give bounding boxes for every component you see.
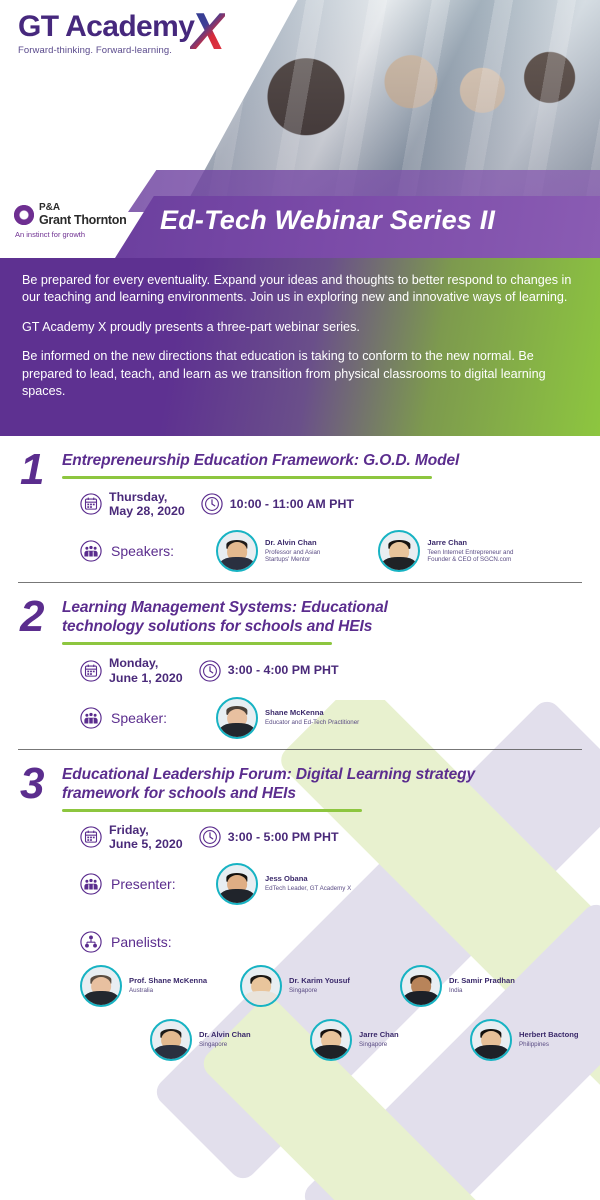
clock-icon bbox=[201, 493, 223, 515]
panelist-4: Dr. Alvin Chan Singapore bbox=[150, 1019, 300, 1061]
avatar bbox=[80, 965, 122, 1007]
intro-paragraph-3: Be informed on the new directions that e… bbox=[22, 348, 578, 400]
grant-thornton-logo: P&A Grant Thornton An instinct for growt… bbox=[14, 203, 132, 239]
panelist-name: Prof. Shane McKenna bbox=[129, 977, 207, 986]
avatar bbox=[216, 530, 258, 572]
session-2-speaker-label: Speaker: bbox=[111, 710, 167, 726]
speaker-role-line1: Professor and Asian bbox=[265, 549, 320, 556]
avatar bbox=[216, 697, 258, 739]
session-3-time-text: 3:00 - 5:00 PM PHT bbox=[228, 830, 339, 844]
session-3-panelist-label: Panelists: bbox=[111, 934, 172, 950]
session-2-speakers: Speaker: Shane McKenna Educator and Ed-T… bbox=[80, 697, 580, 739]
panelist-1: Prof. Shane McKenna Australia bbox=[80, 965, 230, 1007]
panelist-name: Dr. Samir Pradhan bbox=[449, 977, 515, 986]
session-3-number: 3 bbox=[20, 764, 62, 804]
avatar-body bbox=[314, 1045, 349, 1061]
session-1-number: 1 bbox=[20, 450, 62, 490]
session-1-underline bbox=[62, 476, 432, 479]
session-2-speaker-label-group: Speaker: bbox=[80, 707, 198, 729]
avatar bbox=[400, 965, 442, 1007]
panelist-2: Dr. Karim Yousuf Singapore bbox=[240, 965, 390, 1007]
session-1-speaker-1: Dr. Alvin Chan Professor and Asian Start… bbox=[216, 530, 320, 572]
session-2-speaker-1: Shane McKenna Educator and Ed-Tech Pract… bbox=[216, 697, 359, 739]
session-2: 2 Learning Management Systems: Education… bbox=[0, 583, 600, 748]
session-3-presenter-1: Jess Obana EdTech Leader, GT Academy X bbox=[216, 863, 351, 905]
panelist-name: Herbert Bactong bbox=[519, 1031, 579, 1040]
session-1-date-line2: May 28, 2020 bbox=[109, 504, 185, 518]
gt-academy-logo: GT Academy X Forward-thinking. Forward-l… bbox=[18, 12, 233, 56]
avatar-body bbox=[474, 1045, 509, 1061]
grant-thornton-line2: Grant Thornton bbox=[39, 214, 126, 227]
session-1-speaker-label: Speakers: bbox=[111, 543, 174, 559]
panelist-5: Jarre Chan Singapore bbox=[310, 1019, 460, 1061]
session-3-presenter-label-group: Presenter: bbox=[80, 873, 198, 895]
speakers-group-icon bbox=[80, 873, 102, 895]
session-2-time: 3:00 - 4:00 PM PHT bbox=[199, 660, 339, 682]
session-3-date: Friday, June 5, 2020 bbox=[80, 823, 183, 852]
avatar-body bbox=[220, 889, 255, 905]
session-2-date-line1: Monday, bbox=[109, 656, 183, 670]
session-1-speaker-label-group: Speakers: bbox=[80, 540, 198, 562]
avatar bbox=[470, 1019, 512, 1061]
session-1-speaker-2: Jarre Chan Teen Internet Entrepreneur an… bbox=[378, 530, 513, 572]
avatar bbox=[378, 530, 420, 572]
title-band: Ed-Tech Webinar Series II bbox=[115, 196, 600, 258]
calendar-icon bbox=[80, 826, 102, 848]
avatar-body bbox=[382, 557, 417, 573]
intro-section: Be prepared for every eventuality. Expan… bbox=[0, 258, 600, 436]
session-1: 1 Entrepreneurship Education Framework: … bbox=[0, 436, 600, 582]
session-3-title: Educational Leadership Forum: Digital Le… bbox=[62, 766, 487, 804]
intro-paragraph-2: GT Academy X proudly presents a three-pa… bbox=[22, 319, 578, 336]
speaker-name: Shane McKenna bbox=[265, 709, 359, 718]
panelist-name: Jarre Chan bbox=[359, 1031, 399, 1040]
session-2-number: 2 bbox=[20, 597, 62, 637]
avatar-body bbox=[220, 723, 255, 739]
grant-thornton-line1: P&A bbox=[39, 203, 126, 214]
avatar-body bbox=[154, 1045, 189, 1061]
session-2-meta: Monday, June 1, 2020 3:00 - 4:0 bbox=[80, 656, 580, 685]
session-3-meta: Friday, June 5, 2020 3:00 - 5:0 bbox=[80, 823, 600, 852]
speaker-role-line1: Educator and Ed-Tech Practitioner bbox=[265, 719, 359, 726]
session-3-date-line2: June 5, 2020 bbox=[109, 837, 183, 851]
session-1-title: Entrepreneurship Education Framework: G.… bbox=[62, 452, 580, 471]
panelist-country: Singapore bbox=[199, 1041, 251, 1048]
infographic-page: Ed-Tech Webinar Series II GT Academy X F… bbox=[0, 0, 600, 1200]
session-1-meta: Thursday, May 28, 2020 10:00 - bbox=[80, 490, 580, 519]
clock-icon bbox=[199, 660, 221, 682]
session-3-presenter: Presenter: Jess Obana EdTech Leader, GT … bbox=[80, 863, 600, 905]
session-3-underline bbox=[62, 809, 362, 812]
avatar bbox=[310, 1019, 352, 1061]
session-2-date: Monday, June 1, 2020 bbox=[80, 656, 183, 685]
panelist-name: Dr. Karim Yousuf bbox=[289, 977, 350, 986]
speaker-name: Dr. Alvin Chan bbox=[265, 539, 320, 548]
grant-thornton-mark-icon bbox=[14, 205, 34, 225]
panelist-country: Australia bbox=[129, 987, 207, 994]
sessions-list: 1 Entrepreneurship Education Framework: … bbox=[0, 436, 600, 1071]
panelist-country: India bbox=[449, 987, 515, 994]
panelist-6: Herbert Bactong Philippines bbox=[470, 1019, 600, 1061]
avatar-body bbox=[220, 557, 255, 573]
panelist-name: Dr. Alvin Chan bbox=[199, 1031, 251, 1040]
session-2-date-line2: June 1, 2020 bbox=[109, 671, 183, 685]
session-1-speakers: Speakers: Dr. Alvin Chan Professor and A… bbox=[80, 530, 580, 572]
panelists-row-2: Dr. Alvin Chan Singapore bbox=[150, 1019, 600, 1061]
panelist-3: Dr. Samir Pradhan India bbox=[400, 965, 550, 1007]
panelists-network-icon bbox=[80, 931, 102, 953]
page-title: Ed-Tech Webinar Series II bbox=[160, 205, 495, 236]
header: Ed-Tech Webinar Series II GT Academy X F… bbox=[0, 0, 600, 258]
speaker-role-line2: Startups' Mentor bbox=[265, 556, 320, 563]
gt-academy-x-mark: X bbox=[190, 6, 225, 58]
avatar-body bbox=[244, 991, 279, 1007]
session-3-panelists: Panelists: bbox=[80, 917, 600, 1007]
intro-paragraph-1: Be prepared for every eventuality. Expan… bbox=[22, 272, 578, 307]
session-2-time-text: 3:00 - 4:00 PM PHT bbox=[228, 663, 339, 677]
session-3-panelist-label-group: Panelists: bbox=[80, 931, 198, 953]
grant-thornton-tagline: An instinct for growth bbox=[15, 230, 132, 239]
speakers-group-icon bbox=[80, 540, 102, 562]
panelist-country: Singapore bbox=[359, 1041, 399, 1048]
clock-icon bbox=[199, 826, 221, 848]
session-1-date: Thursday, May 28, 2020 bbox=[80, 490, 185, 519]
session-1-date-line1: Thursday, bbox=[109, 490, 185, 504]
panelists-grid-row2: Dr. Alvin Chan Singapore bbox=[80, 1019, 600, 1061]
session-2-title: Learning Management Systems: Educational… bbox=[62, 599, 462, 637]
avatar-body bbox=[404, 991, 439, 1007]
avatar bbox=[240, 965, 282, 1007]
panelists-row-1: Prof. Shane McKenna Australia bbox=[80, 965, 550, 1007]
calendar-icon bbox=[80, 660, 102, 682]
presenter-name: Jess Obana bbox=[265, 875, 351, 884]
speaker-role-line2: Founder & CEO of SGCN.com bbox=[427, 556, 513, 563]
avatar bbox=[216, 863, 258, 905]
panelist-country: Philippines bbox=[519, 1041, 579, 1048]
session-3-time: 3:00 - 5:00 PM PHT bbox=[199, 826, 339, 848]
avatar bbox=[150, 1019, 192, 1061]
session-1-time: 10:00 - 11:00 AM PHT bbox=[201, 493, 354, 515]
speaker-role-line1: Teen Internet Entrepreneur and bbox=[427, 549, 513, 556]
session-1-time-text: 10:00 - 11:00 AM PHT bbox=[230, 497, 354, 511]
session-2-underline bbox=[62, 642, 332, 645]
panelists-grid: Prof. Shane McKenna Australia bbox=[80, 965, 550, 1007]
panelist-country: Singapore bbox=[289, 987, 350, 994]
avatar-body bbox=[84, 991, 119, 1007]
calendar-icon bbox=[80, 493, 102, 515]
session-3-presenter-label: Presenter: bbox=[111, 876, 176, 892]
session-3-date-line1: Friday, bbox=[109, 823, 183, 837]
presenter-role-line1: EdTech Leader, GT Academy X bbox=[265, 885, 351, 892]
session-3: 3 Educational Leadership Forum: Digital … bbox=[0, 750, 600, 1071]
speaker-name: Jarre Chan bbox=[427, 539, 513, 548]
speakers-group-icon bbox=[80, 707, 102, 729]
